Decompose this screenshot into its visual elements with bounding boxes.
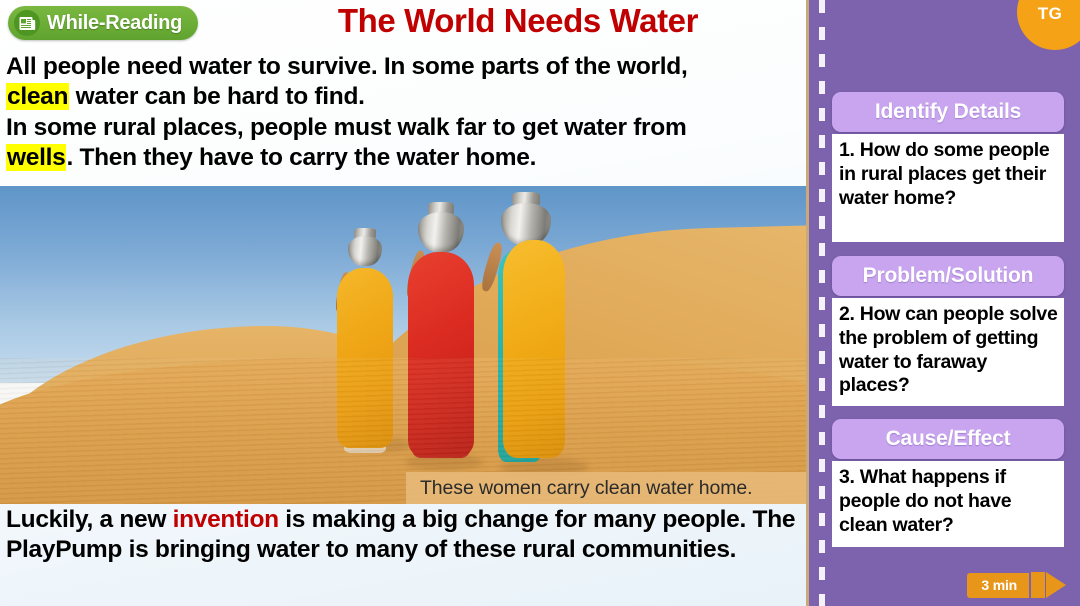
timer-arrow-base — [1031, 572, 1045, 598]
while-reading-label: While-Reading — [47, 12, 182, 35]
question-header-problem-solution: Problem/Solution — [832, 256, 1064, 296]
keyword-invention: invention — [173, 506, 279, 533]
timer-badge: 3 min — [967, 572, 1066, 598]
timer-label: 3 min — [967, 573, 1029, 598]
highlight-wells: wells — [6, 144, 66, 171]
page-title: The World Needs Water — [240, 2, 796, 40]
question-text-2: 2. How can people solve the problem of g… — [832, 298, 1064, 406]
newspaper-icon — [14, 10, 40, 36]
question-header-identify-details: Identify Details — [832, 92, 1064, 132]
bottom-text-a: Luckily, a new — [6, 506, 173, 533]
question-text-3: 3. What happens if people do not have cl… — [832, 461, 1064, 547]
photo-waterpot-middle — [418, 212, 464, 252]
question-group-identify-details: Identify Details 1. How do some people i… — [832, 92, 1064, 242]
sidebar-left-edge — [806, 0, 809, 606]
slide-canvas: While-Reading The World Needs Water All … — [0, 0, 1080, 606]
reading-paragraph-bottom: Luckily, a new invention is making a big… — [6, 505, 802, 566]
paragraph-line-4: . Then they have to carry the water home… — [66, 144, 536, 171]
photo-caption: These women carry clean water home. — [406, 472, 806, 504]
main-content-area: While-Reading The World Needs Water All … — [0, 0, 806, 606]
paragraph-line-2: water can be hard to find. — [69, 83, 364, 110]
questions-sidebar: TG Identify Details 1. How do some peopl… — [806, 0, 1080, 606]
desert-women-photo — [0, 186, 806, 504]
question-header-cause-effect: Cause/Effect — [832, 419, 1064, 459]
photo-waterpot-left — [348, 236, 382, 266]
paragraph-line-1: All people need water to survive. In som… — [6, 53, 687, 80]
teacher-guide-badge[interactable]: TG — [1017, 0, 1080, 50]
question-group-problem-solution: Problem/Solution 2. How can people solve… — [832, 256, 1064, 406]
dashed-divider-line — [819, 0, 825, 606]
paragraph-line-3: In some rural places, people must walk f… — [6, 114, 686, 141]
reading-paragraph-top: All people need water to survive. In som… — [6, 52, 802, 174]
teacher-guide-label: TG — [1038, 4, 1063, 24]
photo-waterpot-right — [501, 203, 551, 245]
highlight-clean: clean — [6, 83, 69, 110]
question-group-cause-effect: Cause/Effect 3. What happens if people d… — [832, 419, 1064, 547]
while-reading-badge: While-Reading — [8, 6, 198, 40]
question-text-1: 1. How do some people in rural places ge… — [832, 134, 1064, 242]
next-arrow-icon[interactable] — [1046, 572, 1066, 598]
